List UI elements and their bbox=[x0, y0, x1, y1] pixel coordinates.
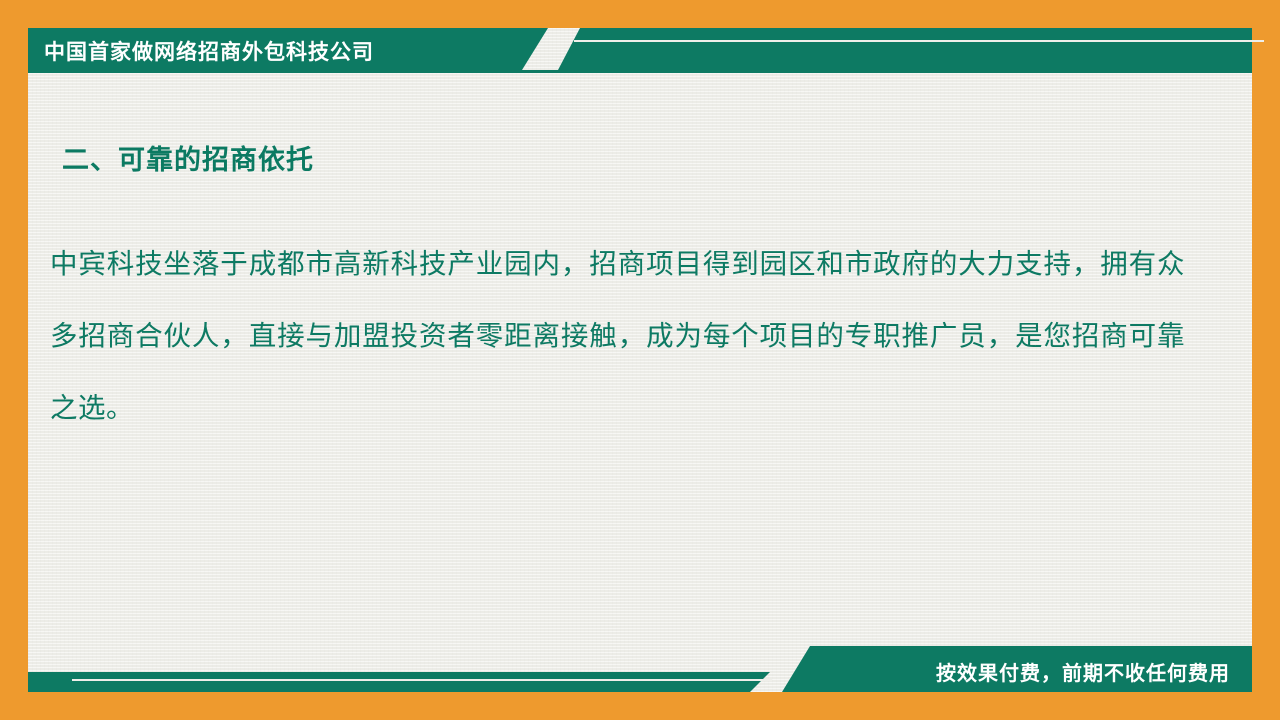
section-heading: 二、可靠的招商依托 bbox=[62, 138, 314, 177]
slide: 中国首家做网络招商外包科技公司 二、可靠的招商依托 中宾科技坐落于成都市高新科技… bbox=[0, 0, 1280, 720]
header-title: 中国首家做网络招商外包科技公司 bbox=[44, 36, 374, 66]
footer-band: 按效果付费，前期不收任何费用 bbox=[28, 646, 1252, 692]
body-paragraph: 中宾科技坐落于成都市高新科技产业园内，招商项目得到园区和市政府的大力支持，拥有众… bbox=[50, 228, 1185, 444]
header-accent-line bbox=[574, 40, 1264, 42]
header-band: 中国首家做网络招商外包科技公司 bbox=[28, 28, 1252, 70]
footer-accent-line bbox=[72, 679, 772, 681]
footer-left-banner-shape bbox=[28, 672, 770, 692]
header-right-banner-shape bbox=[558, 28, 1252, 70]
header-underline bbox=[28, 70, 1252, 73]
footer-slogan: 按效果付费，前期不收任何费用 bbox=[936, 657, 1230, 686]
